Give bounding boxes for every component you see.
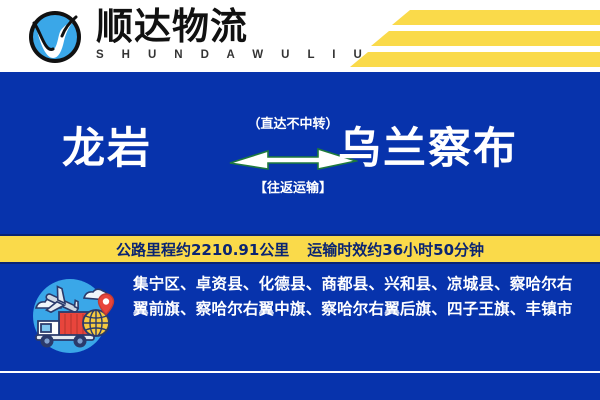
bottom-divider bbox=[0, 371, 600, 373]
logistics-route-banner: 顺达物流 S H U N D A W U L I U 龙岩 （直达不中转） 【往… bbox=[0, 0, 600, 400]
coverage-areas-text: 集宁区、卓资县、化德县、商都县、兴和县、凉城县、察哈尔右翼前旗、察哈尔右翼中旗、… bbox=[133, 272, 585, 322]
destination-city: 乌兰察布 bbox=[338, 123, 518, 175]
coverage-section: 集宁区、卓资县、化德县、商都县、兴和县、凉城县、察哈尔右翼前旗、察哈尔右翼中旗、… bbox=[0, 266, 600, 366]
roundtrip-note: 【往返运输】 bbox=[254, 177, 332, 196]
route-section: 龙岩 （直达不中转） 【往返运输】 乌兰察布 bbox=[0, 105, 600, 205]
info-bar: 公路里程约2210.91公里 运输时效约36小时50分钟 bbox=[0, 234, 600, 264]
duration-text: 运输时效约36小时50分钟 bbox=[307, 239, 484, 260]
distance-text: 公路里程约2210.91公里 bbox=[116, 239, 289, 260]
swoosh-circle-logo-icon bbox=[26, 8, 84, 66]
header: 顺达物流 S H U N D A W U L I U bbox=[0, 0, 600, 72]
stripe-1 bbox=[392, 10, 600, 25]
origin-city: 龙岩 bbox=[62, 123, 152, 175]
brand-name-en: S H U N D A W U L I U bbox=[96, 49, 296, 61]
logistics-truck-plane-globe-icon bbox=[22, 276, 118, 356]
brand-text: 顺达物流 S H U N D A W U L I U bbox=[96, 7, 296, 61]
decorative-stripes bbox=[330, 0, 600, 72]
direct-note: （直达不中转） bbox=[247, 113, 338, 132]
brand-name-cn: 顺达物流 bbox=[96, 7, 296, 47]
stripe-3 bbox=[350, 52, 600, 67]
stripe-2 bbox=[371, 31, 600, 46]
